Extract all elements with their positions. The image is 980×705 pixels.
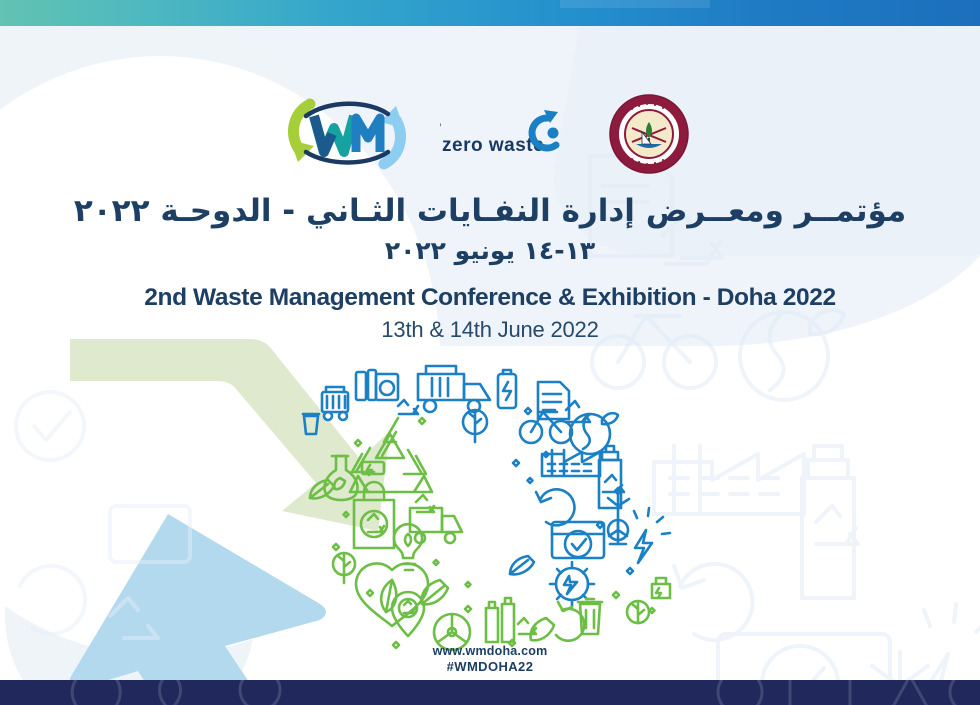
trash-cart-icon [322, 387, 348, 420]
battery-icon [498, 370, 516, 408]
logo-row: صفر نفايات zero waste [0, 92, 980, 176]
leaf-icon-blue [510, 556, 534, 574]
bottles-recycle-icon [486, 598, 536, 642]
website-url[interactable]: www.wmdoha.com [0, 644, 980, 658]
checkmark-box-icon [552, 522, 604, 558]
garbage-truck-icon [418, 366, 490, 412]
electric-car-icon [652, 578, 670, 598]
arabic-date: ١٣-١٤ يونيو ٢٠٢٢ [0, 235, 980, 268]
top-bar-glint [560, 0, 710, 8]
bottom-bar-watermark-left [60, 680, 320, 705]
leaf-recycle-bottom-icon [531, 602, 585, 641]
english-title: 2nd Waste Management Conference & Exhibi… [0, 284, 980, 312]
water-bottle-recycle-icon [599, 446, 624, 508]
lightning-bolt-icon [634, 508, 670, 563]
bottom-navy-bar [0, 680, 980, 705]
conference-banner: صفر نفايات zero waste [0, 0, 980, 705]
english-date: 13th & 14th June 2022 [0, 317, 980, 343]
trash-bin-small-icon [303, 414, 319, 434]
qatar-emblem [606, 92, 692, 176]
watermark-icons-left [0, 356, 220, 680]
zero-waste-arabic: صفر نفايات [440, 113, 442, 133]
recycle-arrows-icon [536, 489, 574, 525]
wm-logo [288, 98, 406, 170]
leaf-icon-green [310, 480, 334, 498]
tree-icon-left [333, 553, 355, 583]
battery-icon-green [362, 462, 384, 475]
top-gradient-bar [0, 0, 980, 26]
washing-machine-icon [356, 370, 418, 414]
trash-bin-icon-green [578, 599, 602, 634]
globe-plant-icon [570, 413, 618, 454]
tree-icon-right [627, 601, 649, 623]
tree-icon-top [463, 410, 487, 442]
zero-waste-logo: صفر نفايات zero waste [440, 104, 572, 164]
zero-waste-arrow-icon [532, 110, 558, 148]
zero-waste-english: zero waste [442, 135, 544, 156]
icon-cluster [300, 352, 700, 652]
electric-truck-icon [410, 495, 462, 543]
title-block: مؤتمــر ومعــرض إدارة النفـايات الثـاني … [0, 192, 980, 343]
footer-block: www.wmdoha.com #WMDOHA22 [0, 644, 980, 674]
recycle-triangle-icon [350, 418, 432, 492]
bicycle-icon [520, 412, 572, 443]
wind-turbine-icon [608, 494, 629, 544]
arabic-title: مؤتمــر ومعــرض إدارة النفـايات الثـاني … [0, 192, 980, 231]
bottom-bar-watermark [700, 680, 980, 705]
hashtag: #WMDOHA22 [0, 659, 980, 674]
